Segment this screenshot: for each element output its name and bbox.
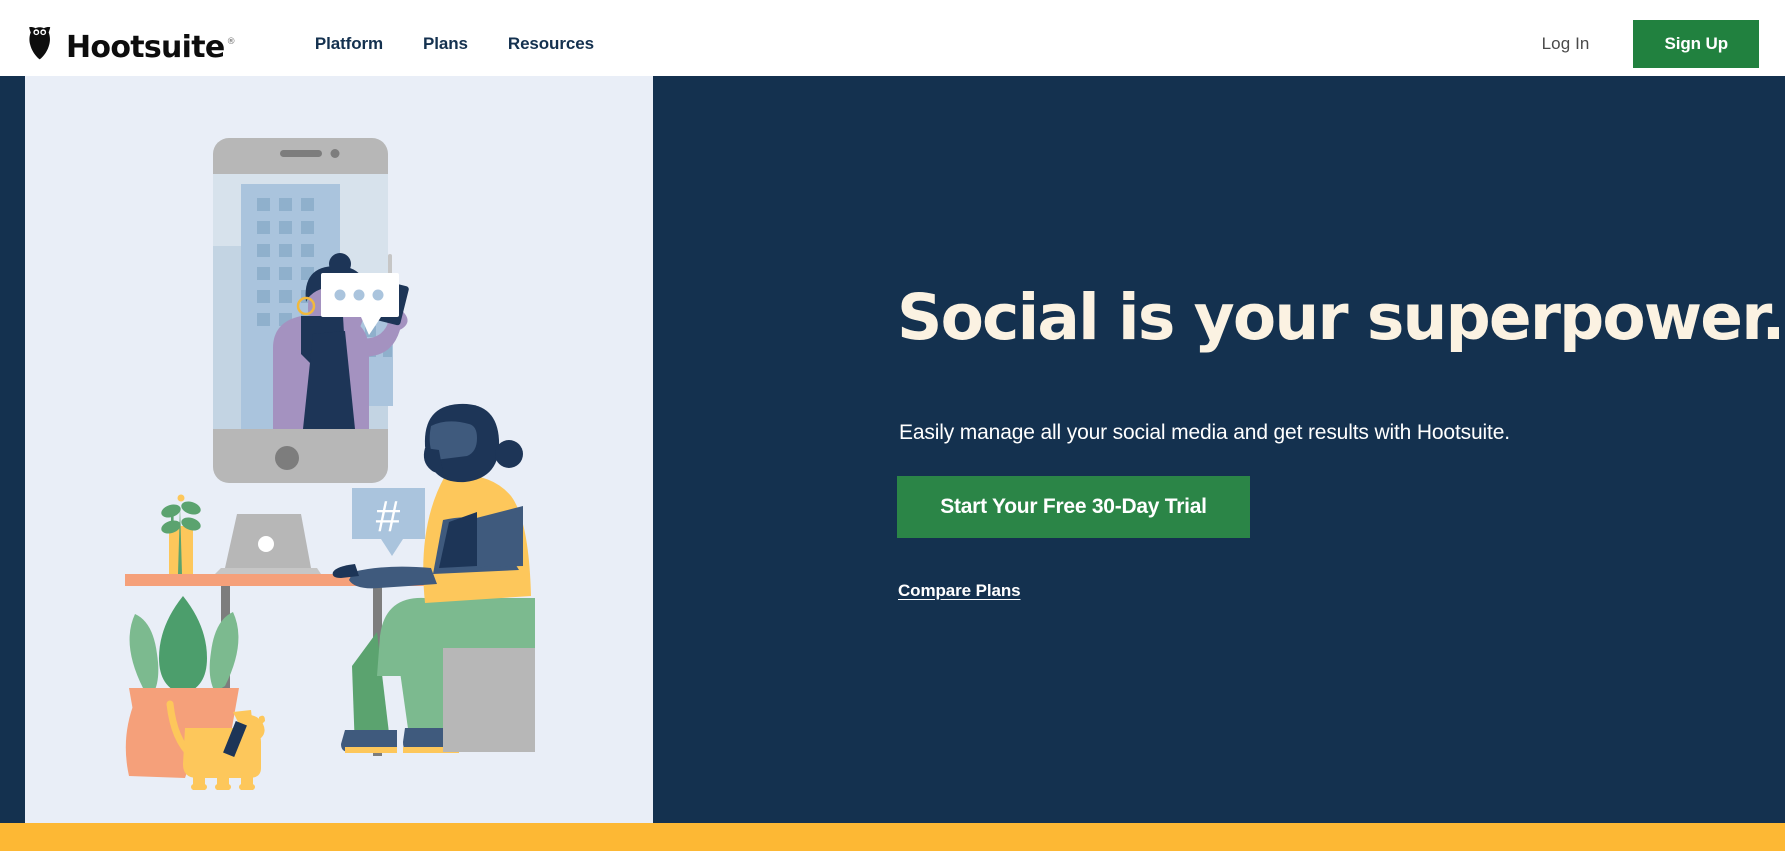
hero-section: #	[0, 76, 1785, 823]
header-actions: Log In Sign Up	[1542, 20, 1759, 68]
hero-illustration-panel: #	[25, 76, 653, 823]
hashtag-glyph: #	[376, 492, 401, 541]
nav-item-resources[interactable]: Resources	[488, 24, 614, 64]
smartphone-with-woman-taking-photo	[213, 138, 409, 483]
start-free-trial-button[interactable]: Start Your Free 30-Day Trial	[897, 476, 1250, 538]
sign-up-button[interactable]: Sign Up	[1633, 20, 1759, 68]
log-in-link[interactable]: Log In	[1542, 34, 1590, 54]
nav-item-platform[interactable]: Platform	[315, 24, 403, 64]
site-header: Hootsuite® Platform Plans Resources Log …	[0, 0, 1785, 88]
nav-item-plans[interactable]: Plans	[403, 24, 488, 64]
hero-headline: Social is your superpower.	[897, 286, 1784, 350]
social-media-workspace-illustration: #	[25, 76, 653, 823]
brand-wordmark: Hootsuite®	[66, 33, 233, 63]
main-navigation: Platform Plans Resources	[315, 24, 614, 64]
brand-logo-link[interactable]: Hootsuite®	[28, 26, 233, 62]
page-root: Hootsuite® Platform Plans Resources Log …	[0, 0, 1785, 851]
owl-icon	[28, 26, 58, 60]
compare-plans-link[interactable]: Compare Plans	[898, 581, 1020, 601]
bottom-accent-band	[0, 823, 1785, 851]
hero-subheading: Easily manage all your social media and …	[899, 421, 1510, 445]
registered-trademark: ®	[227, 37, 235, 47]
hero-copy: Social is your superpower. Easily manage…	[897, 76, 1697, 823]
